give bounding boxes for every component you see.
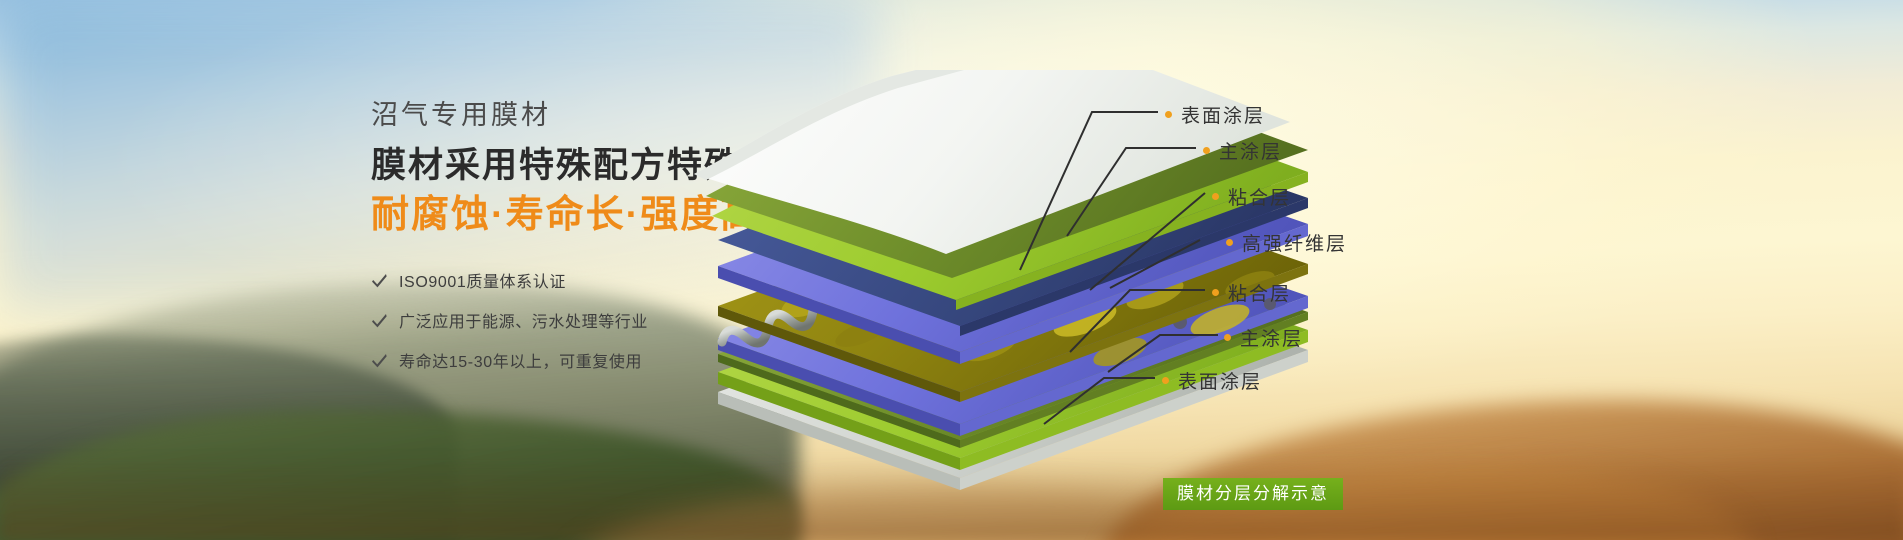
- callout-label: 表面涂层: [1178, 367, 1262, 394]
- callout-adhesive-top: 粘合层: [1212, 183, 1291, 210]
- callout-label: 粘合层: [1228, 183, 1291, 210]
- callout-label: 粘合层: [1228, 279, 1291, 306]
- callout-label: 主涂层: [1240, 324, 1303, 351]
- callout-label-group: 表面涂层 主涂层 粘合层 高强纤维层 粘合层 主涂层 表面涂层: [0, 0, 1903, 540]
- callout-dot-icon: [1203, 147, 1210, 154]
- callout-main-coat-bottom: 主涂层: [1224, 324, 1303, 351]
- callout-surface-coat-bottom: 表面涂层: [1162, 367, 1262, 394]
- callout-label: 主涂层: [1219, 137, 1282, 164]
- callout-dot-icon: [1224, 334, 1231, 341]
- callout-main-coat-top: 主涂层: [1203, 137, 1282, 164]
- callout-label: 表面涂层: [1181, 101, 1265, 128]
- callout-surface-coat-top: 表面涂层: [1165, 101, 1265, 128]
- callout-fiber-core: 高强纤维层: [1226, 229, 1347, 256]
- callout-dot-icon: [1162, 377, 1169, 384]
- callout-dot-icon: [1212, 193, 1219, 200]
- status-badge: 膜材分层分解示意: [1163, 478, 1343, 510]
- hero-banner: 沼气专用膜材 膜材采用特殊配方特殊处理 耐腐蚀·寿命长·强度高 ISO9001质…: [0, 0, 1903, 540]
- callout-adhesive-bottom: 粘合层: [1212, 279, 1291, 306]
- callout-label: 高强纤维层: [1242, 229, 1347, 256]
- callout-dot-icon: [1212, 289, 1219, 296]
- callout-dot-icon: [1165, 111, 1172, 118]
- callout-dot-icon: [1226, 239, 1233, 246]
